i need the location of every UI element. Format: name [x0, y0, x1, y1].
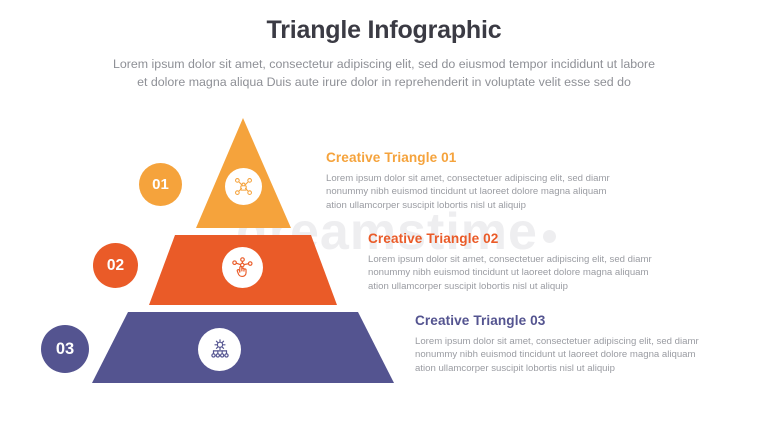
body-tier-3-line-2: nonummy nibh euismod tincidunt ut laoree… — [415, 348, 715, 361]
body-tier-2-line-1: Lorem ipsum dolor sit amet, consectetuer… — [368, 253, 668, 266]
badge-number-01[interactable]: 01 — [139, 163, 182, 206]
subtitle-line-1: Lorem ipsum dolor sit amet, consectetur … — [34, 55, 734, 73]
heading-tier-3: Creative Triangle 03 — [415, 313, 715, 328]
heading-tier-1: Creative Triangle 01 — [326, 150, 626, 165]
touch-network-icon — [230, 255, 255, 280]
badge-label-03: 03 — [56, 340, 74, 359]
body-tier-1-line-3: ation ullamcorper suscipit lobortis nisl… — [326, 199, 626, 212]
badge-label-01: 01 — [152, 176, 169, 193]
badge-number-02[interactable]: 02 — [93, 243, 138, 288]
gear-network-icon — [207, 337, 233, 363]
badge-label-02: 02 — [107, 257, 124, 275]
icon-circle-1[interactable] — [225, 168, 262, 205]
icon-circle-2[interactable] — [222, 247, 263, 288]
header: Triangle Infographic Lorem ipsum dolor s… — [0, 14, 768, 91]
infographic-page: Triangle Infographic Lorem ipsum dolor s… — [0, 0, 768, 432]
heading-tier-2: Creative Triangle 02 — [368, 231, 668, 246]
body-tier-2: Lorem ipsum dolor sit amet, consectetuer… — [368, 253, 668, 293]
content-block-1: Creative Triangle 01 Lorem ipsum dolor s… — [326, 150, 626, 212]
body-tier-3-line-3: ation ullamcorper suscipit lobortis nisl… — [415, 362, 715, 375]
body-tier-3-line-1: Lorem ipsum dolor sit amet, consectetuer… — [415, 335, 715, 348]
body-tier-2-line-3: ation ullamcorper suscipit lobortis nisl… — [368, 280, 668, 293]
body-tier-1-line-1: Lorem ipsum dolor sit amet, consectetuer… — [326, 172, 626, 185]
page-subtitle: Lorem ipsum dolor sit amet, consectetur … — [34, 55, 734, 91]
badge-number-03[interactable]: 03 — [41, 325, 89, 373]
content-block-2: Creative Triangle 02 Lorem ipsum dolor s… — [368, 231, 668, 293]
subtitle-line-2: et dolore magna aliqua Duis aute irure d… — [34, 73, 734, 91]
body-tier-3: Lorem ipsum dolor sit amet, consectetuer… — [415, 335, 715, 375]
icon-circle-3[interactable] — [198, 328, 241, 371]
body-tier-2-line-2: nonummy nibh euismod tincidunt ut laoree… — [368, 266, 668, 279]
page-title: Triangle Infographic — [0, 14, 768, 46]
pyramid-tier-3[interactable] — [92, 312, 394, 383]
network-lock-icon — [232, 175, 255, 198]
body-tier-1-line-2: nonummy nibh euismod tincidunt ut laoree… — [326, 185, 626, 198]
body-tier-1: Lorem ipsum dolor sit amet, consectetuer… — [326, 172, 626, 212]
content-block-3: Creative Triangle 03 Lorem ipsum dolor s… — [415, 313, 715, 375]
